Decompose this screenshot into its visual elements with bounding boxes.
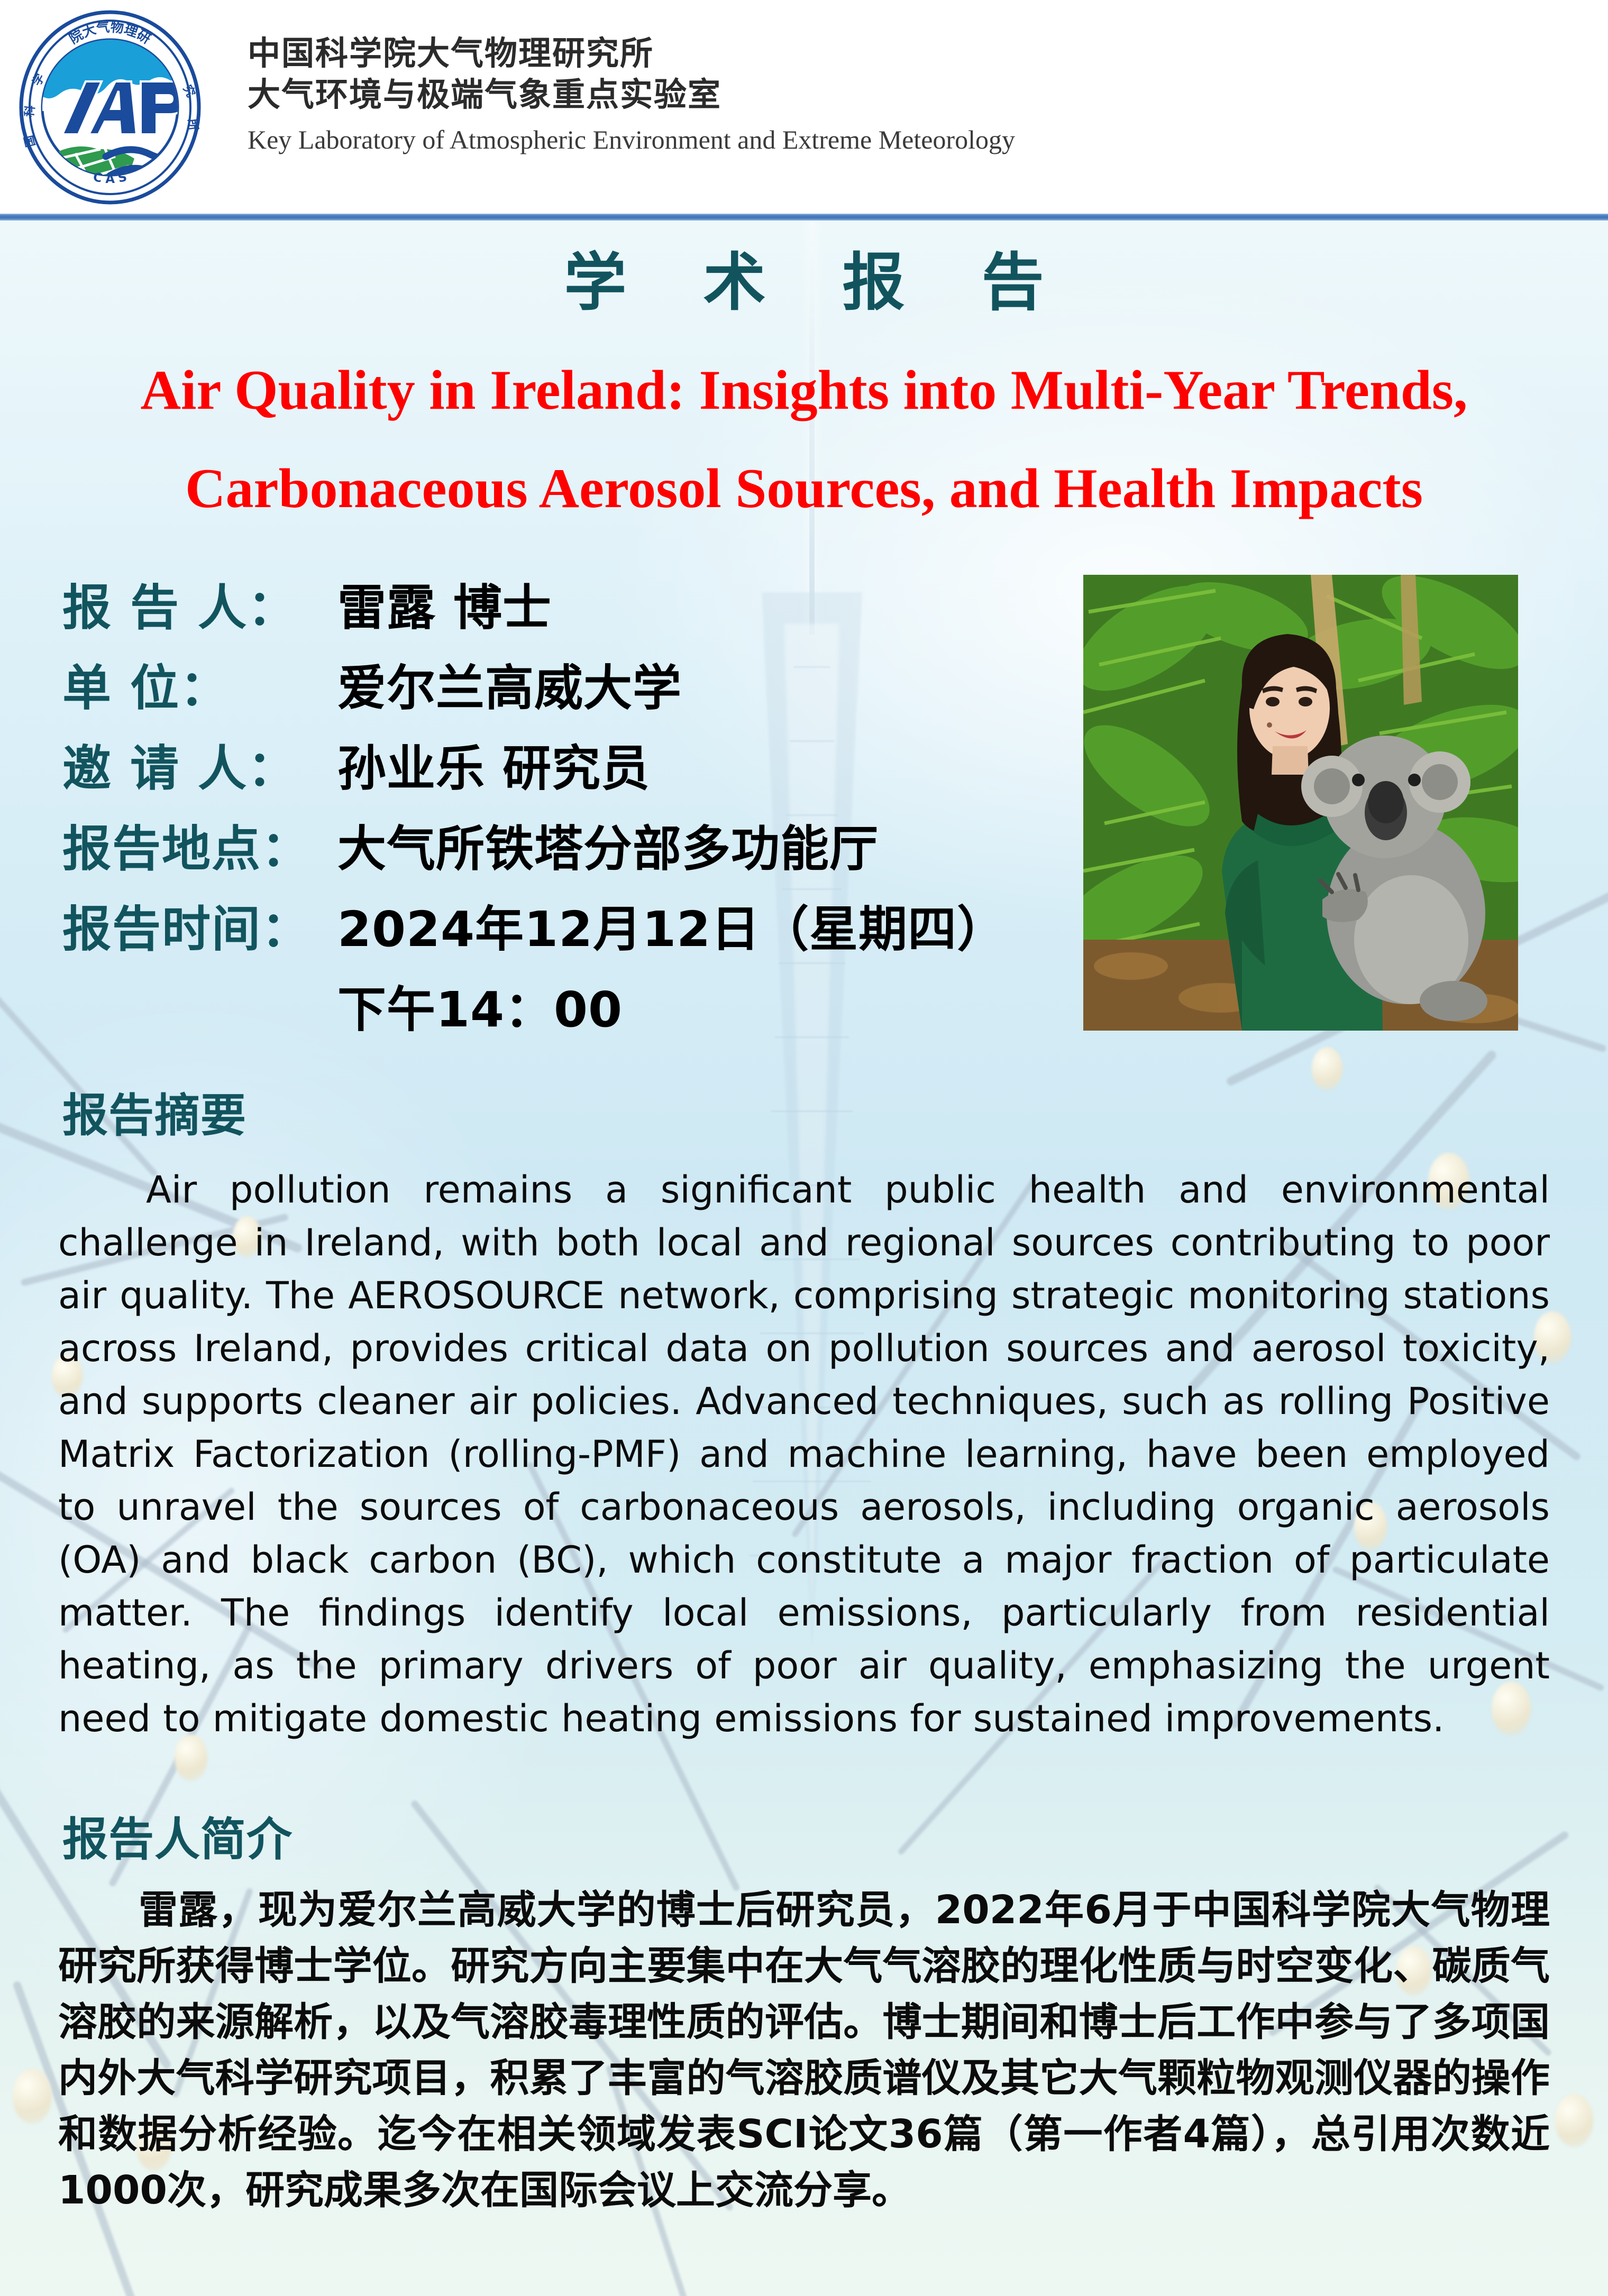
label-host: 邀 请 人： — [62, 729, 337, 800]
label-venue: 报告地点： — [62, 810, 337, 880]
abstract-text: Air pollution remains a significant publ… — [58, 1163, 1550, 1745]
label-datetime: 报告时间： — [62, 890, 337, 960]
iap-cas-logo: 院大气物理研 C A S 学 科 国 究 所 — [12, 7, 208, 207]
abstract-heading: 报告摘要 — [62, 1078, 1608, 1144]
organization-names: 中国科学院大气物理研究所 大气环境与极端气象重点实验室 Key Laborato… — [248, 33, 1015, 159]
welcome-message: 欢迎老师同学们踊跃参加！ — [0, 2282, 1608, 2296]
value-speaker: 雷露 博士 — [337, 568, 552, 639]
lab-name-cn: 大气环境与极端气象重点实验室 — [248, 74, 1015, 115]
value-host: 孙业乐 研究员 — [337, 729, 650, 800]
bio-text: 雷露，现为爱尔兰高威大学的博士后研究员，2022年6月于中国科学院大气物理研究所… — [58, 1882, 1550, 2218]
poster-header: 院大气物理研 C A S 学 科 国 究 所 中国科学院大气物理研究所 大气环境… — [0, 0, 1608, 215]
label-speaker: 报 告 人： — [62, 568, 337, 639]
talk-title: Air Quality in Ireland: Insights into Mu… — [111, 341, 1497, 538]
talk-details: 报 告 人： 雷露 博士 单 位： 爱尔兰高威大学 邀 请 人： 孙业乐 研究员… — [0, 568, 1607, 1051]
svg-text:所: 所 — [185, 118, 200, 131]
label-affiliation: 单 位： — [62, 649, 337, 719]
value-venue: 大气所铁塔分部多功能厅 — [337, 810, 879, 880]
institute-name-cn: 中国科学院大气物理研究所 — [248, 33, 1015, 74]
svg-text:科: 科 — [23, 105, 38, 118]
value-date: 2024年12月12日（星期四） — [337, 890, 1006, 960]
banner-academic-lecture: 学 术 报 告 — [0, 248, 1608, 317]
svg-text:C A S: C A S — [92, 170, 128, 186]
seminar-poster: 院大气物理研 C A S 学 科 国 究 所 中国科学院大气物理研究所 大气环境… — [0, 0, 1608, 2296]
speaker-photo — [1083, 575, 1518, 1031]
bio-heading: 报告人简介 — [62, 1802, 1608, 1868]
poster-content: 学 术 报 告 Air Quality in Ireland: Insights… — [0, 221, 1608, 2296]
value-affiliation: 爱尔兰高威大学 — [337, 649, 682, 719]
header-divider — [0, 214, 1608, 221]
lab-name-en: Key Laboratory of Atmospheric Environmen… — [248, 121, 1015, 159]
value-time: 下午14：00 — [337, 970, 623, 1041]
